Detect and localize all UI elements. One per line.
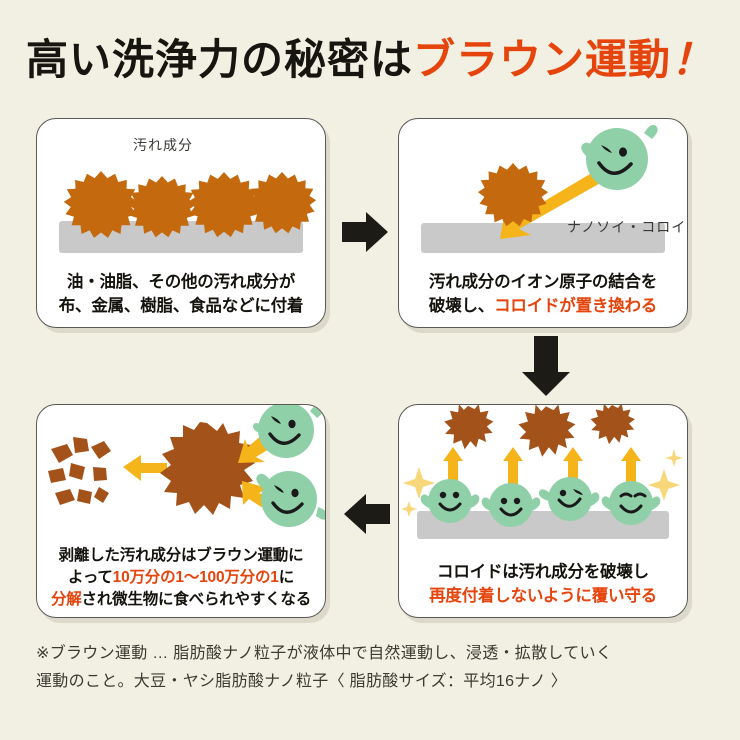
panel-2-caption: 汚れ成分のイオン原子の結合を 破壊し、コロイドが置き換わる [399, 271, 687, 319]
panel-4-caption-line-2-black-b: に [279, 569, 294, 586]
panel-3-caption: コロイドは汚れ成分を破壊し 再度付着しないように覆い守る [399, 561, 687, 609]
footnote-line-1: ※ブラウン運動 … 脂肪酸ナノ粒子が液体中で自然運動し、浸透・拡散していく [36, 640, 708, 668]
fragment-arrow [123, 455, 167, 481]
dirt-blob-3 [591, 405, 635, 444]
title-exclamation: ！ [671, 36, 714, 83]
panel-2-illustration: ナノソイ・コロイド [399, 119, 687, 255]
panel-step-3: コロイドは汚れ成分を破壊し 再度付着しないように覆い守る [398, 404, 688, 618]
panel-4-caption-line-2-black-a: よって [68, 569, 113, 586]
page-title: 高い洗浄力の秘密はブラウン運動！ [0, 26, 740, 87]
up-arrow-2 [503, 447, 523, 489]
panel-step-4: 剥離した汚れ成分はブラウン運動に よって10万分の1〜100万分の1に 分解され… [36, 404, 326, 618]
dirt-star-1 [64, 171, 138, 238]
nanosoy-colloid-label: ナノソイ・コロイド [567, 217, 688, 237]
panel-4-shapes [37, 405, 325, 533]
panel-3-caption-line-1: コロイドは汚れ成分を破壊し [399, 561, 687, 585]
colloid-2 [482, 483, 541, 527]
arrow-down-icon [518, 332, 574, 402]
dirt-blob-2 [518, 405, 575, 457]
panel-3-illustration [399, 405, 687, 533]
panel-4-caption-line-1: 剥離した汚れ成分はブラウン運動に [37, 545, 325, 567]
dirt-blob-1 [444, 405, 493, 449]
dirt-star-4 [248, 172, 316, 233]
panel-step-2: ナノソイ・コロイド 汚れ成分のイオン原子の結合を 破壊し、コロイドが置き換わる [398, 118, 688, 328]
decomposed-fragments [48, 437, 111, 505]
panel-1-illustration: 汚れ成分 [37, 119, 325, 255]
colloid-4 [602, 481, 661, 525]
panel-4-caption-line-3: 分解され微生物に食べられやすくなる [37, 589, 325, 611]
footnote: ※ブラウン運動 … 脂肪酸ナノ粒子が液体中で自然運動し、浸透・拡散していく 運動… [36, 640, 708, 696]
panel-4-caption-line-3-red: 分解 [51, 591, 82, 608]
colloid-lower [256, 471, 325, 527]
panel-4-illustration [37, 405, 325, 533]
sparkle-3 [648, 469, 680, 501]
infographic-canvas: 高い洗浄力の秘密はブラウン運動！ 汚れ成分 油・油脂、その他の汚れ成分が 布、金… [0, 0, 740, 740]
dirt-star-group [37, 119, 325, 255]
panel-2-caption-line-2: 破壊し、コロイドが置き換わる [399, 295, 687, 319]
panel-2-caption-line-2-black: 破壊し、 [429, 297, 494, 315]
panel-1-caption-line-2: 布、金属、樹脂、食品などに付着 [37, 295, 325, 319]
panel-3-caption-line-2: 再度付着しないように覆い守る [399, 585, 687, 609]
footnote-line-2: 運動のこと。大豆・ヤシ脂肪酸ナノ粒子〈 脂肪酸サイズ：平均16ナノ 〉 [36, 668, 708, 696]
panel-2-caption-line-2-red: コロイドが置き換わる [494, 297, 657, 315]
panel-4-caption: 剥離した汚れ成分はブラウン運動に よって10万分の1〜100万分の1に 分解され… [37, 545, 325, 611]
colloid-3 [539, 477, 599, 521]
sparkle-6 [401, 501, 417, 517]
colloid-row [421, 477, 661, 527]
arrow-left-icon [338, 490, 394, 542]
sparkle-5 [665, 449, 683, 467]
title-black-text: 高い洗浄力の秘密は [26, 36, 413, 83]
colloid-1 [421, 479, 480, 523]
panel-2-caption-line-1: 汚れ成分のイオン原子の結合を [399, 271, 687, 295]
dirt-blob-large [160, 422, 255, 515]
panel-4-caption-line-2-red: 10万分の1〜100万分の1 [113, 569, 279, 586]
arrow-right-icon [338, 208, 394, 260]
dirt-star-3 [188, 172, 260, 237]
panel-step-1: 汚れ成分 油・油脂、その他の汚れ成分が 布、金属、樹脂、食品などに付着 [36, 118, 326, 328]
colloid-eye-right [619, 147, 627, 156]
title-red-text: ブラウン運動 [413, 36, 671, 83]
panel-3-shapes [399, 405, 687, 541]
panel-4-caption-line-3-black: され微生物に食べられやすくなる [82, 591, 312, 608]
panel-4-caption-line-2: よって10万分の1〜100万分の1に [37, 567, 325, 589]
panel-1-caption-line-1: 油・油脂、その他の汚れ成分が [37, 271, 325, 295]
panel-1-caption: 油・油脂、その他の汚れ成分が 布、金属、樹脂、食品などに付着 [37, 271, 325, 319]
dirt-star-2 [128, 176, 196, 237]
